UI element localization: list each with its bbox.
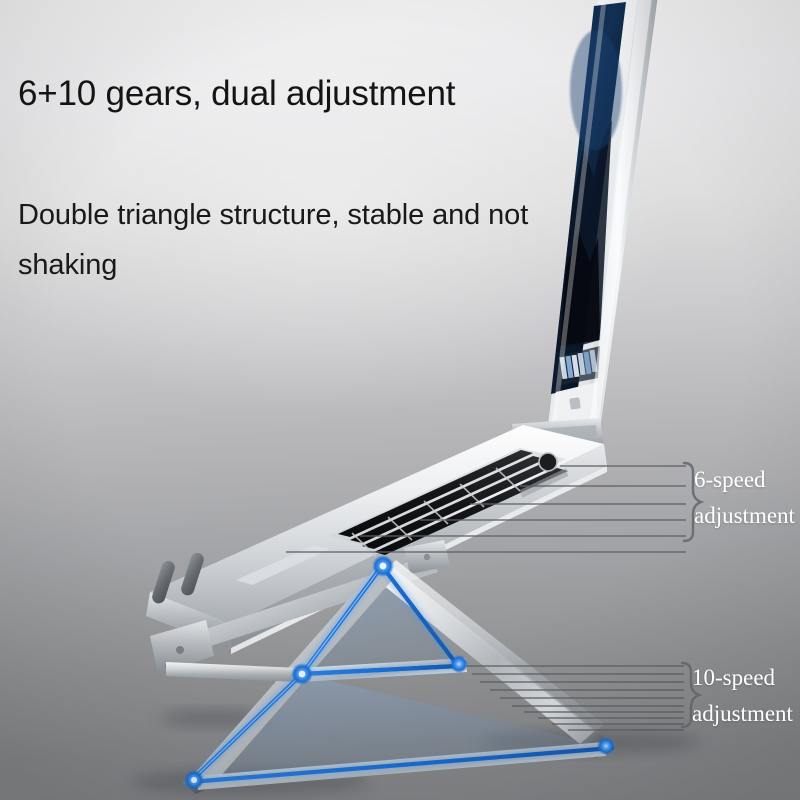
laptop-lid [548, 0, 660, 432]
product-illustration [0, 0, 800, 800]
page-subtitle: Double triangle structure, stable and no… [18, 190, 558, 290]
product-marketing-image: 6+10 gears, dual adjustment Double trian… [0, 0, 800, 800]
callout-label-six-speed: 6-speed adjustment [694, 462, 795, 534]
callout-ten-speed-line2: adjustment [692, 696, 793, 732]
page-title: 6+10 gears, dual adjustment [18, 74, 455, 114]
laptop-logo [569, 397, 580, 409]
pivot-dot-floor-right [597, 737, 615, 755]
callout-six-speed-line1: 6-speed [694, 462, 795, 498]
callout-six-speed-line2: adjustment [694, 498, 795, 534]
callout-label-ten-speed: 10-speed adjustment [692, 660, 793, 732]
pivot-dot-rear [450, 655, 468, 673]
left-strut [166, 662, 300, 682]
callout-ten-speed-line1: 10-speed [692, 660, 793, 696]
